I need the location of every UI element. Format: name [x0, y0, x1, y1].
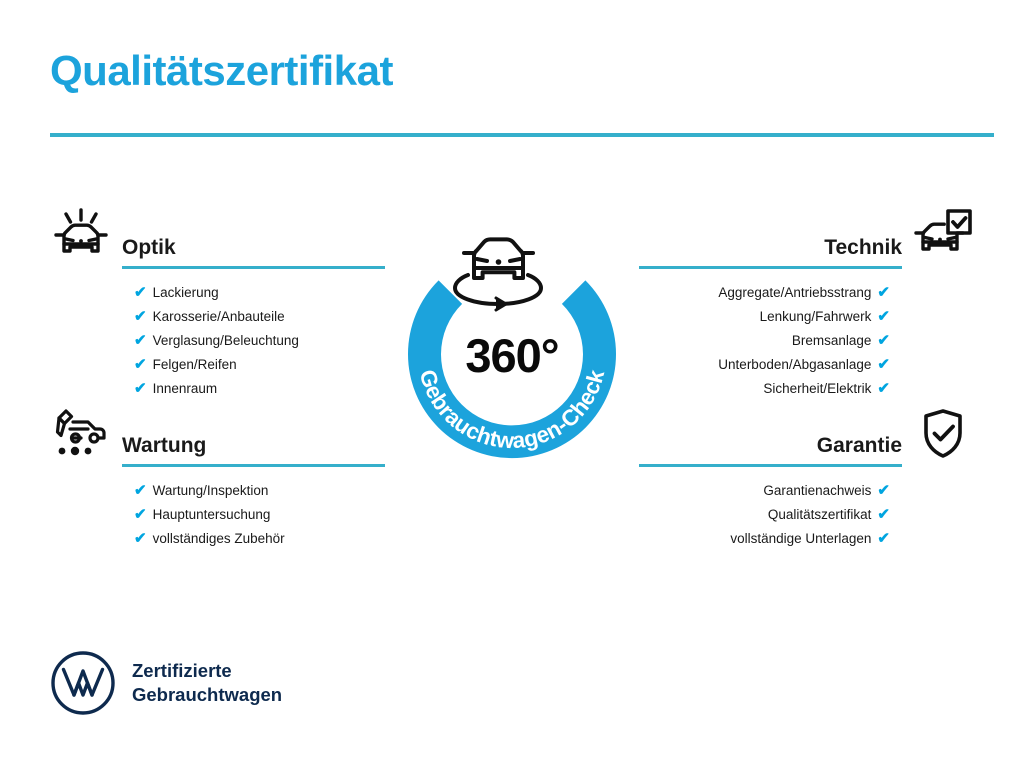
check-icon: ✔: [877, 353, 890, 377]
car-checkbox-icon: [912, 206, 974, 268]
check-icon: ✔: [877, 503, 890, 527]
list-item: ✔ Bremsanlage: [639, 329, 890, 353]
title-divider: [50, 133, 994, 137]
list-item: ✔ Felgen/Reifen: [134, 353, 385, 377]
list-item: ✔ Qualitätszertifikat: [639, 503, 890, 527]
checklist-wartung: ✔ Wartung/Inspektion ✔ Hauptuntersuchung…: [134, 479, 385, 551]
car-rotate-360-icon: [455, 239, 541, 310]
list-item: ✔ Lackierung: [134, 281, 385, 305]
check-icon: ✔: [134, 281, 147, 305]
shield-check-icon: [912, 404, 974, 466]
section-title: Technik: [639, 236, 902, 259]
list-item-label: Garantienachweis: [763, 479, 871, 503]
check-icon: ✔: [134, 527, 147, 551]
section-divider: [639, 464, 902, 467]
check-icon: ✔: [134, 377, 147, 401]
list-item-label: Karosserie/Anbauteile: [153, 305, 285, 329]
list-item-label: Bremsanlage: [792, 329, 872, 353]
car-shine-icon: [50, 206, 112, 268]
section-header: Optik: [50, 206, 385, 269]
section-divider: [639, 266, 902, 269]
check-icon: ✔: [134, 479, 147, 503]
list-item-label: Lackierung: [153, 281, 219, 305]
badge-360-gebrauchtwagen-check: Gebrauchtwagen-Check 360°: [376, 196, 648, 486]
section-wartung: Wartung ✔ Wartung/Inspektion ✔ Hauptunte…: [50, 404, 385, 567]
section-divider: [122, 464, 385, 467]
list-item: ✔ Aggregate/Antriebsstrang: [639, 281, 890, 305]
section-title: Optik: [122, 236, 385, 259]
check-icon: ✔: [877, 377, 890, 401]
volkswagen-logo-icon: [50, 650, 116, 716]
list-item-label: Unterboden/Abgasanlage: [718, 353, 871, 377]
check-icon: ✔: [134, 305, 147, 329]
checklist-garantie: ✔ Garantienachweis ✔ Qualitätszertifikat…: [639, 479, 890, 551]
list-item: ✔ Unterboden/Abgasanlage: [639, 353, 890, 377]
section-header: Wartung: [50, 404, 385, 467]
list-item-label: Qualitätszertifikat: [768, 503, 872, 527]
certificate-page: Qualitätszertifikat Optik: [0, 0, 1024, 768]
list-item: ✔ vollständige Unterlagen: [639, 527, 890, 551]
list-item-label: vollständiges Zubehör: [153, 527, 285, 551]
list-item: ✔ Wartung/Inspektion: [134, 479, 385, 503]
check-icon: ✔: [877, 527, 890, 551]
logo-line-2: Gebrauchtwagen: [132, 683, 282, 707]
check-icon: ✔: [134, 329, 147, 353]
section-garantie: Garantie ✔ Garantienachweis ✔ Qualitätsz…: [639, 404, 974, 567]
list-item-label: Aggregate/Antriebsstrang: [718, 281, 871, 305]
volkswagen-certified-logo: Zertifizierte Gebrauchtwagen: [50, 650, 282, 716]
checklist-optik: ✔ Lackierung ✔ Karosserie/Anbauteile ✔ V…: [134, 281, 385, 401]
list-item: ✔ Innenraum: [134, 377, 385, 401]
list-item: ✔ Sicherheit/Elektrik: [639, 377, 890, 401]
section-header: Garantie: [639, 404, 974, 467]
list-item-label: Lenkung/Fahrwerk: [760, 305, 872, 329]
list-item: ✔ Garantienachweis: [639, 479, 890, 503]
list-item-label: Verglasung/Beleuchtung: [153, 329, 299, 353]
section-technik: Technik ✔ Aggregate/Antriebsstrang ✔ Len…: [639, 206, 974, 417]
check-icon: ✔: [877, 329, 890, 353]
list-item: ✔ Karosserie/Anbauteile: [134, 305, 385, 329]
list-item: ✔ vollständiges Zubehör: [134, 527, 385, 551]
check-icon: ✔: [877, 305, 890, 329]
list-item: ✔ Verglasung/Beleuchtung: [134, 329, 385, 353]
section-title: Wartung: [122, 434, 385, 457]
check-icon: ✔: [877, 281, 890, 305]
section-header: Technik: [639, 206, 974, 269]
list-item-label: Hauptuntersuchung: [153, 503, 271, 527]
logo-wordmark: Zertifizierte Gebrauchtwagen: [132, 659, 282, 706]
list-item: ✔ Hauptuntersuchung: [134, 503, 385, 527]
check-icon: ✔: [134, 503, 147, 527]
pencil-car-service-icon: [50, 404, 112, 466]
list-item-label: vollständige Unterlagen: [730, 527, 871, 551]
page-title: Qualitätszertifikat: [50, 50, 393, 92]
section-optik: Optik ✔ Lackierung ✔ Karosserie/Anbautei…: [50, 206, 385, 417]
logo-line-1: Zertifizierte: [132, 659, 282, 683]
list-item-label: Innenraum: [153, 377, 218, 401]
section-divider: [122, 266, 385, 269]
list-item-label: Felgen/Reifen: [153, 353, 237, 377]
list-item: ✔ Lenkung/Fahrwerk: [639, 305, 890, 329]
checklist-technik: ✔ Aggregate/Antriebsstrang ✔ Lenkung/Fah…: [639, 281, 890, 401]
check-icon: ✔: [134, 353, 147, 377]
section-title: Garantie: [639, 434, 902, 457]
list-item-label: Sicherheit/Elektrik: [763, 377, 871, 401]
check-icon: ✔: [877, 479, 890, 503]
list-item-label: Wartung/Inspektion: [153, 479, 269, 503]
